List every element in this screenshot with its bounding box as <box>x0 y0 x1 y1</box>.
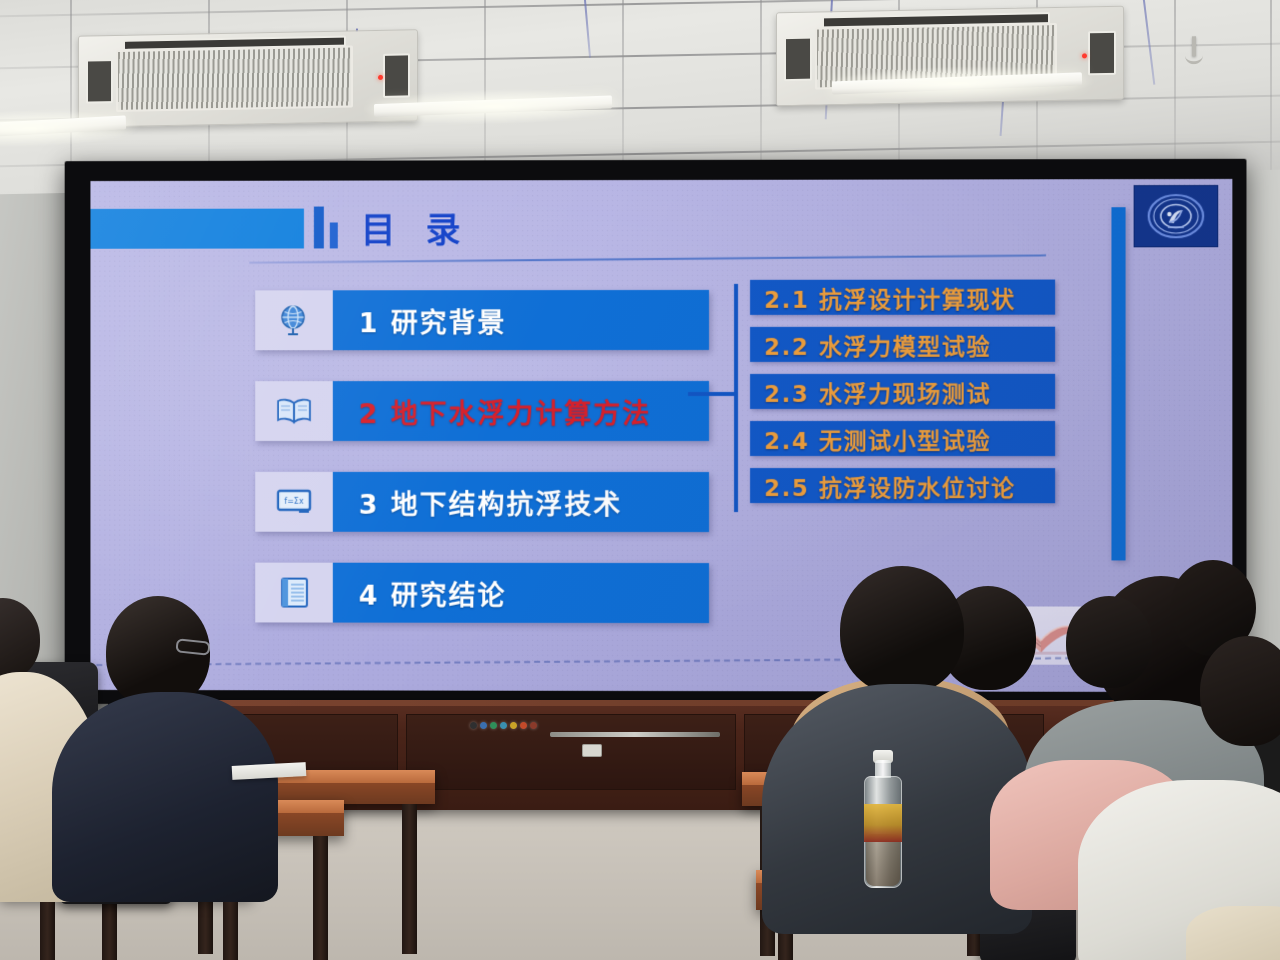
subsection-row-3[interactable]: 2.3 水浮力现场测试 <box>750 374 1055 409</box>
section-row-1[interactable]: 1 研究背景 <box>255 290 709 350</box>
light-glow <box>364 87 626 126</box>
torso <box>52 692 278 902</box>
water-bottle[interactable] <box>862 760 904 888</box>
light-glow <box>0 109 140 149</box>
svg-text:f=Σx: f=Σx <box>284 497 303 506</box>
section-label-4: 4 研究结论 <box>333 563 709 623</box>
head <box>840 566 964 694</box>
globe-icon-glyph <box>277 303 311 337</box>
audience-member-8 <box>1186 906 1280 960</box>
lecture-hall-scene: 目 录 <box>0 0 1280 960</box>
connector-vertical <box>734 284 738 512</box>
av-control-strip <box>550 732 720 737</box>
section-label-3: 3 地下结构抗浮技术 <box>333 472 709 532</box>
av-control-buttons[interactable] <box>470 722 537 729</box>
ceiling-hook <box>1192 36 1196 56</box>
section-label-1: 1 研究背景 <box>333 290 709 350</box>
section-row-3[interactable]: f=Σx 3 地下结构抗浮技术 <box>255 472 709 532</box>
vertical-accent-bar <box>1111 207 1125 560</box>
subsection-row-5[interactable]: 2.5 抗浮设防水位讨论 <box>750 468 1055 503</box>
head <box>1200 636 1280 746</box>
section-row-4[interactable]: 4 研究结论 <box>255 563 709 623</box>
subsection-row-1[interactable]: 2.1 抗浮设计计算现状 <box>750 280 1055 315</box>
university-seal-logo <box>1134 185 1219 247</box>
section-label-2: 2 地下水浮力计算方法 <box>333 381 709 441</box>
light-glow <box>822 64 1094 103</box>
globe-icon <box>255 290 333 350</box>
whiteboard-formula-icon: f=Σx <box>255 472 333 532</box>
podium-top-edge <box>150 700 1180 706</box>
bottle-label <box>864 804 902 842</box>
subsections-column: 2.1 抗浮设计计算现状 2.2 水浮力模型试验 2.3 水浮力现场测试 2.4… <box>750 280 1055 516</box>
header-tick-small <box>330 222 338 248</box>
sections-column: 1 研究背景 2 地下水浮力计算方法 <box>255 290 709 654</box>
subsection-row-2[interactable]: 2.2 水浮力模型试验 <box>750 327 1055 362</box>
connector-branch <box>688 392 738 396</box>
presentation-slide: 目 录 <box>90 179 1232 692</box>
head <box>1066 596 1152 688</box>
slide-title: 目 录 <box>361 202 470 253</box>
screen-surface: 目 录 <box>90 179 1232 692</box>
podium-panel-mid <box>406 714 736 790</box>
section-row-2[interactable]: 2 地下水浮力计算方法 <box>255 381 709 441</box>
notebook-icon <box>255 563 333 623</box>
header-accent-bar <box>90 209 304 249</box>
seal-emblem-icon <box>1145 192 1207 240</box>
notebook-icon-glyph <box>278 576 310 610</box>
whiteboard-formula-icon-glyph: f=Σx <box>275 487 313 517</box>
open-book-icon <box>255 381 333 441</box>
title-underline <box>249 254 1046 263</box>
open-book-icon-glyph <box>275 396 313 426</box>
subsection-row-4[interactable]: 2.4 无测试小型试验 <box>750 421 1055 456</box>
av-control-tag <box>582 744 602 757</box>
header-tick-large <box>314 207 324 249</box>
